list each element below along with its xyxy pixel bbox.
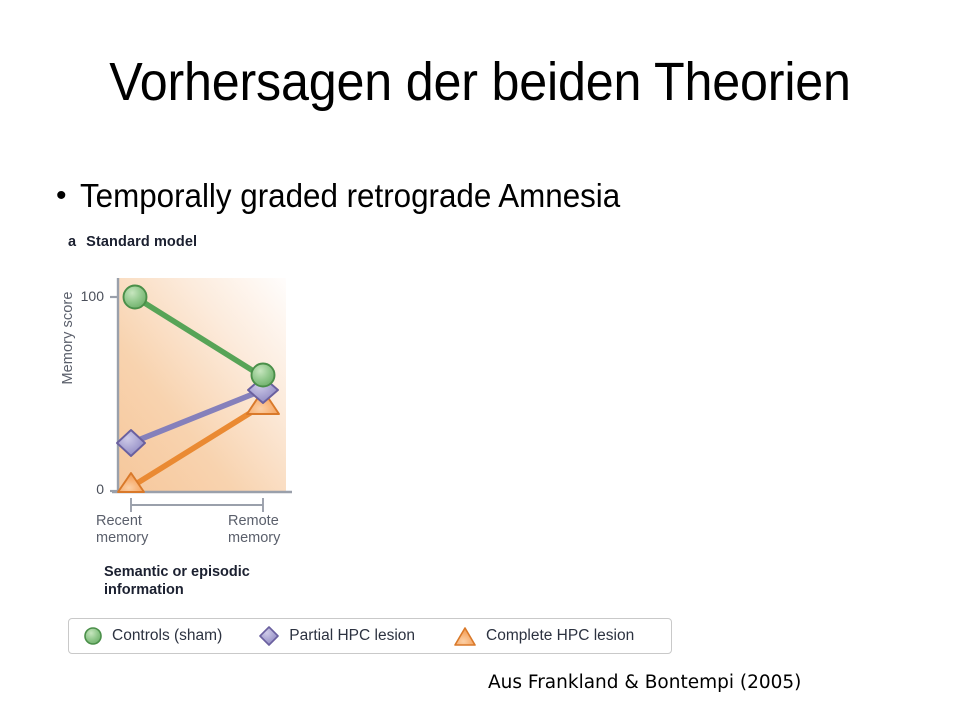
figure-panel-heading: a Standard model (68, 234, 197, 250)
legend-item-controls: Controls (sham) (83, 626, 222, 646)
marker-controls-remote (252, 364, 275, 387)
legend-item-complete-lesion: Complete HPC lesion (453, 625, 634, 647)
chart-legend: Controls (sham) Partial HPC lesion (68, 618, 672, 654)
legend-triangle-icon (453, 625, 477, 647)
page-title: Vorhersagen der beiden Theorien (34, 52, 927, 112)
x-tick-label-recent: Recent memory (96, 513, 148, 547)
legend-circle-icon (83, 626, 103, 646)
legend-label-complete-lesion: Complete HPC lesion (486, 627, 634, 645)
x-axis-caption-line1: Semantic or episodic (104, 563, 314, 581)
bullet-list-item: • Temporally graded retrograde Amnesia (56, 176, 648, 216)
x-axis-caption: Semantic or episodic information (104, 563, 314, 599)
marker-controls-recent (124, 286, 147, 309)
x-tick-label-recent-line1: Recent (96, 513, 148, 530)
x-tick-label-remote-line1: Remote (228, 513, 280, 530)
bullet-item-label: Temporally graded retrograde Amnesia (80, 176, 620, 216)
x-tick-label-remote: Remote memory (228, 513, 280, 547)
legend-label-controls: Controls (sham) (112, 627, 222, 645)
legend-label-partial-lesion: Partial HPC lesion (289, 627, 415, 645)
panel-title-label: Standard model (86, 234, 197, 250)
bullet-point-icon: • (56, 176, 67, 216)
x-axis-caption-line2: information (104, 581, 314, 599)
source-citation: Aus Frankland & Bontempi (2005) (488, 672, 801, 693)
x-tick-label-remote-line2: memory (228, 530, 280, 547)
panel-letter-label: a (68, 234, 76, 250)
legend-item-partial-lesion: Partial HPC lesion (258, 625, 415, 647)
chart-plot-area (52, 262, 312, 522)
legend-diamond-icon (258, 625, 280, 647)
x-tick-label-recent-line2: memory (96, 530, 148, 547)
